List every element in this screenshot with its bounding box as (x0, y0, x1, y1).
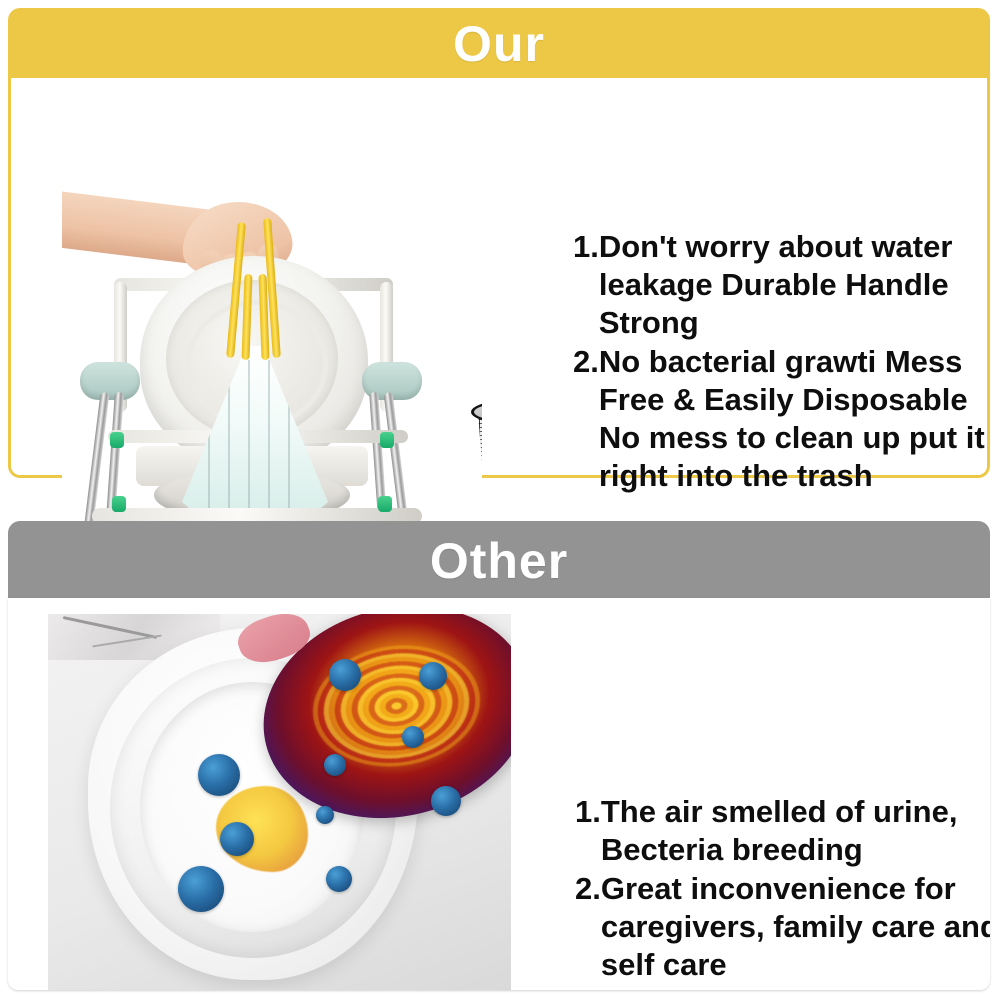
list-item: 2. No bacterial grawti Mess Free & Easil… (573, 343, 996, 495)
other-drawbacks-list: 1. The air smelled of urine, Becteria br… (535, 793, 990, 985)
our-content-frame: 1. Don't worry about water leakage Durab… (8, 78, 990, 478)
bacteria-icon (178, 866, 224, 912)
our-benefits-list: 1. Don't worry about water leakage Durab… (533, 228, 996, 496)
bacteria-icon (198, 754, 240, 796)
list-item-number: 2. (575, 870, 601, 984)
our-panel: Our (0, 0, 996, 500)
list-item-label: Great inconvenience for caregivers, fami… (601, 870, 990, 984)
bacteria-icon (220, 822, 254, 856)
list-item: 1. Don't worry about water leakage Durab… (573, 228, 996, 342)
list-item-label: Don't worry about water leakage Durable … (599, 228, 996, 342)
armrest-pad-left (80, 362, 140, 400)
list-item: 1. The air smelled of urine, Becteria br… (575, 793, 990, 869)
list-item: 2. Great inconvenience for caregivers, f… (575, 870, 990, 984)
our-title: Our (453, 15, 545, 73)
bacteria-icon (324, 754, 346, 776)
bacteria-icon (326, 866, 352, 892)
green-clamp (380, 432, 394, 448)
dirty-toilet-photo (48, 614, 511, 990)
bacteria-icon (431, 786, 461, 816)
other-content-frame: 1. The air smelled of urine, Becteria br… (8, 598, 990, 990)
bacteria-icon (419, 662, 447, 690)
other-title: Other (430, 532, 568, 590)
green-clamp (110, 432, 124, 448)
bacteria-icon (316, 806, 334, 824)
list-item-label: The air smelled of urine, Becteria breed… (601, 793, 990, 869)
bacteria-icon (402, 726, 424, 748)
list-item-number: 1. (573, 228, 599, 342)
list-item-number: 1. (575, 793, 601, 869)
list-item-label: No bacterial grawti Mess Free & Easily D… (599, 343, 996, 495)
list-item-number: 2. (573, 343, 599, 495)
bacteria-icon (329, 659, 361, 691)
other-panel: Other 1. The air (0, 500, 996, 1000)
our-header-band: Our (8, 8, 990, 80)
other-header-band: Other (8, 521, 990, 600)
